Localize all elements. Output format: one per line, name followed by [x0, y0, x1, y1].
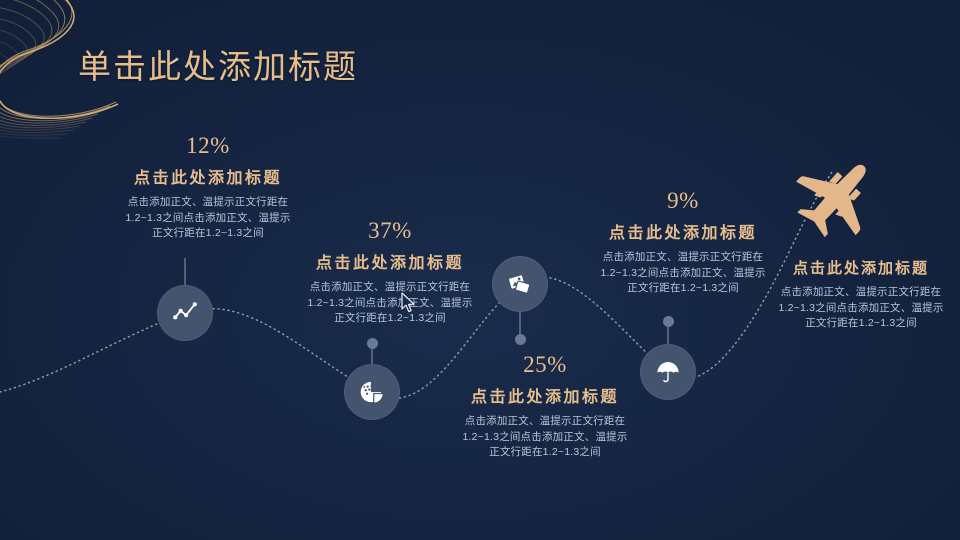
block-title-5: 点击此处添加标题	[765, 257, 957, 278]
airplane-icon	[793, 152, 885, 244]
page-title: 单击此处添加标题	[78, 40, 358, 88]
info-block-3: 25% 点击此处添加标题 点击添加正文、温提示正文行距在 1.2~1.3之间点击…	[420, 352, 670, 461]
block-title-1: 点击此处添加标题	[93, 164, 323, 188]
info-block-5: 点击此处添加标题 点击添加正文、温提示正文行距在 1.2~1.3之间点击添加正文…	[765, 252, 957, 332]
pie-chart-icon	[359, 379, 385, 405]
stem-dot-4	[663, 316, 674, 327]
block-body-5: 点击添加正文、温提示正文行距在 1.2~1.3之间点击添加正文、温提示 正文行距…	[765, 285, 957, 332]
block-title-3: 点击此处添加标题	[420, 383, 670, 407]
block-body-3: 点击添加正文、温提示正文行距在 1.2~1.3之间点击添加正文、温提示 正文行距…	[420, 414, 670, 461]
block-title-2: 点击此处添加标题	[268, 249, 512, 273]
stem-dot-2	[367, 338, 378, 349]
percent-label-2: 37%	[268, 218, 512, 244]
block-title-4: 点击此处添加标题	[558, 219, 808, 243]
photos-icon	[507, 271, 533, 297]
node-marker-4[interactable]	[640, 344, 696, 400]
trend-line-icon	[172, 300, 198, 326]
block-body-2: 点击添加正文、温提示正文行距在 1.2~1.3之间点击添加正文、温提示 正文行距…	[268, 280, 512, 327]
info-block-2: 37% 点击此处添加标题 点击添加正文、温提示正文行距在 1.2~1.3之间点击…	[268, 218, 512, 327]
percent-label-1: 12%	[93, 133, 323, 159]
slide-canvas: 单击此处添加标题 12% 点击此处添加标题 点击添加正文、温提示正文行距在	[0, 0, 960, 540]
node-marker-3[interactable]	[492, 256, 548, 312]
percent-label-4: 9%	[558, 188, 808, 214]
percent-label-3: 25%	[420, 352, 670, 378]
umbrella-icon	[655, 359, 681, 385]
node-marker-2[interactable]	[344, 364, 400, 420]
node-marker-1[interactable]	[157, 285, 213, 341]
stem-dot-3	[515, 334, 526, 345]
